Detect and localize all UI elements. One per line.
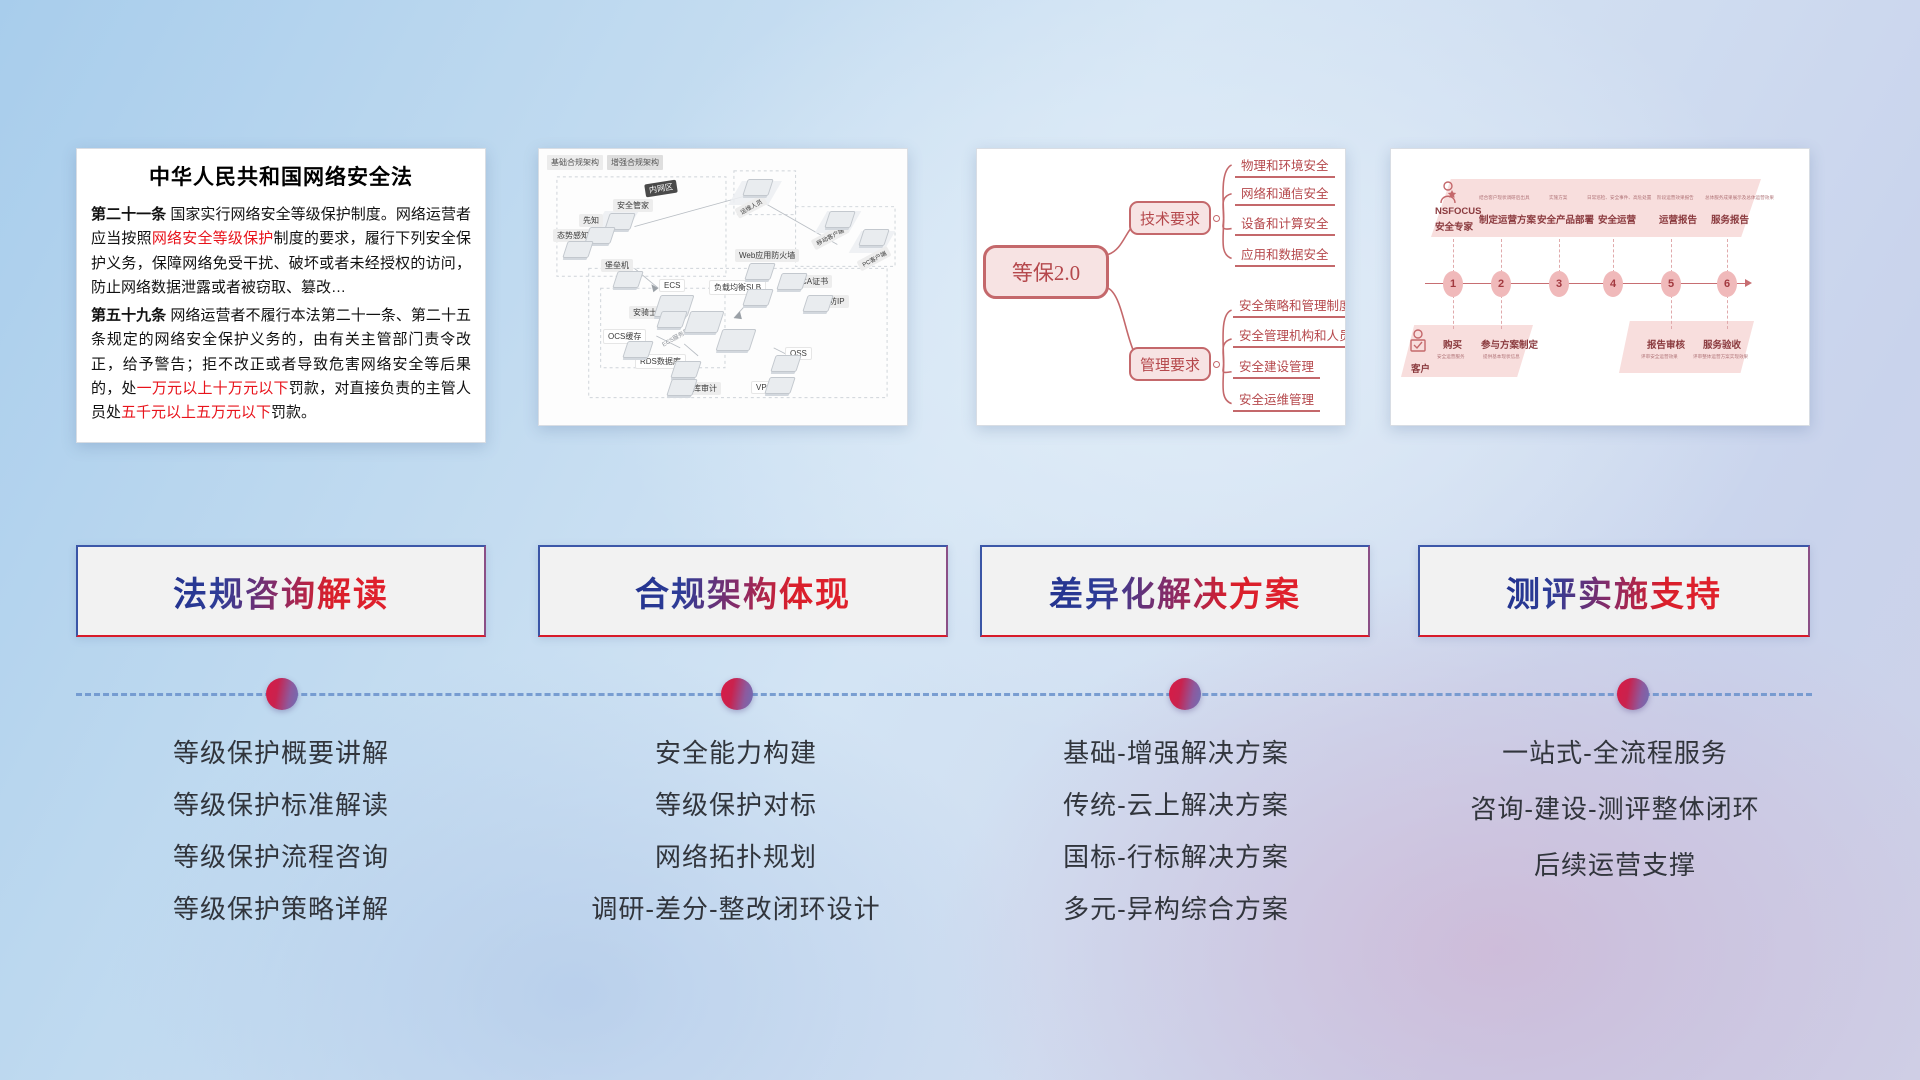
customer-person-icon xyxy=(1409,329,1427,353)
flow-top-title-3: 安全运营 xyxy=(1598,212,1636,226)
flow-tick-3 xyxy=(1559,239,1560,273)
list-item: 等级保护概要讲解 xyxy=(76,740,486,766)
flow-axis-arrow-icon xyxy=(1745,279,1752,287)
mindmap-leaf-security-policy: 安全策略和管理制度 xyxy=(1233,295,1346,318)
mindmap-leaf-physical-environment: 物理和环境安全 xyxy=(1235,155,1335,178)
arch-cube-16 xyxy=(770,355,802,372)
list-item: 基础-增强解决方案 xyxy=(976,740,1376,766)
expert-label-line1: NSFOCUS xyxy=(1435,206,1463,217)
mindmap-diagram: 等保2.0 技术要求 管理要求 物理和环境安全 网络和通信安全 设备和计算安全 … xyxy=(977,149,1345,425)
slide-canvas: 中华人民共和国网络安全法 第二十一条 国家实行网络安全等级保护制度。网络运营者应… xyxy=(0,0,1920,1080)
article-59-text-c: 罚款。 xyxy=(271,404,316,421)
flow-step-circle-1[interactable]: 1 xyxy=(1443,271,1463,297)
list-item: 等级保护对标 xyxy=(516,792,956,818)
arch-node-ecs: ECS xyxy=(659,279,685,292)
flow-top-sub-5: 总体服务成果展示及总体运营效果 xyxy=(1705,195,1774,201)
list-item: 传统-云上解决方案 xyxy=(976,792,1376,818)
flow-top-title-4: 运营报告 xyxy=(1659,212,1697,226)
law-article-21: 第二十一条 国家实行网络安全等级保护制度。网络运营者应当按照网络安全等级保护制度… xyxy=(91,203,471,300)
architecture-diagram: 基础合规架构 增强合规架构 xyxy=(539,149,907,425)
expert-label-line2: 安全专家 xyxy=(1435,219,1463,233)
detail-column-1: 等级保护概要讲解 等级保护标准解读 等级保护流程咨询 等级保护策略详解 xyxy=(76,740,486,948)
arch-cube-8 xyxy=(715,329,756,351)
flow-top-title-5: 服务报告 xyxy=(1711,212,1749,226)
arch-cube-17 xyxy=(764,377,796,394)
arch-node-xianzhi: 先知 xyxy=(579,214,603,227)
flow-tick-2 xyxy=(1501,239,1502,273)
list-item: 国标-行标解决方案 xyxy=(976,844,1376,870)
list-item: 调研-差分-整改闭环设计 xyxy=(516,896,956,922)
flow-top-title-1: 制定运营方案 xyxy=(1479,212,1536,226)
law-text-body: 中华人民共和国网络安全法 第二十一条 国家实行网络安全等级保护制度。网络运营者应… xyxy=(77,149,485,438)
detail-column-3: 基础-增强解决方案 传统-云上解决方案 国标-行标解决方案 多元-异构综合方案 xyxy=(976,740,1376,948)
flow-top-title-2: 安全产品部署 xyxy=(1537,212,1594,226)
law-title: 中华人民共和国网络安全法 xyxy=(91,161,471,191)
list-item: 一站式-全流程服务 xyxy=(1410,740,1820,766)
customer-label: 客户 xyxy=(1411,361,1430,375)
list-item: 网络拓扑规划 xyxy=(516,844,956,870)
flow-tick-b3 xyxy=(1671,295,1672,329)
flow-step-circle-2[interactable]: 2 xyxy=(1491,271,1511,297)
flow-tick-1 xyxy=(1453,239,1454,273)
flow-top-sub-1: 结合客户现状调研后出具 xyxy=(1479,195,1530,201)
timeline-node-4[interactable] xyxy=(1617,678,1649,710)
flow-step-circle-6[interactable]: 6 xyxy=(1717,271,1737,297)
mindmap-branch-technical: 技术要求 xyxy=(1129,201,1211,235)
timeline-node-3[interactable] xyxy=(1169,678,1201,710)
timeline-node-2[interactable] xyxy=(721,678,753,710)
flow-bottom-sub-1: 安全运营服务 xyxy=(1437,354,1465,360)
arch-cube-20 xyxy=(858,229,890,246)
flow-tick-b1 xyxy=(1453,295,1454,329)
flow-tick-5 xyxy=(1671,239,1672,273)
flow-bottom-sub-4: 评审整体运营方案实现效果 xyxy=(1693,354,1748,360)
list-item: 多元-异构综合方案 xyxy=(976,896,1376,922)
article-59-highlight-1: 一万元以上十万元以下 xyxy=(137,380,289,397)
article-21-highlight: 网络安全等级保护 xyxy=(152,230,274,247)
arch-cube-10 xyxy=(670,361,702,378)
card-cybersecurity-law[interactable]: 中华人民共和国网络安全法 第二十一条 国家实行网络安全等级保护制度。网络运营者应… xyxy=(76,148,486,443)
law-article-59: 第五十九条 网络运营者不履行本法第二十一条、第二十五条规定的网络安全保护义务的，… xyxy=(91,304,471,425)
headline-label-1: 法规咨询解读 xyxy=(173,567,389,616)
mindmap-leaf-network-communication: 网络和通信安全 xyxy=(1235,183,1335,206)
arch-cube-18 xyxy=(742,179,774,196)
card-dengbao-mindmap[interactable]: 等保2.0 技术要求 管理要求 物理和环境安全 网络和通信安全 设备和计算安全 … xyxy=(976,148,1346,426)
headline-label-4: 测评实施支持 xyxy=(1506,567,1722,616)
flow-step-circle-5[interactable]: 5 xyxy=(1661,271,1681,297)
list-item: 等级保护流程咨询 xyxy=(76,844,486,870)
mindmap-collapse-dot-technical[interactable] xyxy=(1213,215,1220,222)
flow-tick-6 xyxy=(1727,239,1728,273)
flow-bottom-title-2: 参与方案制定 xyxy=(1481,337,1538,351)
arch-node-security-manager: 安全管家 xyxy=(613,199,653,212)
expert-person-icon xyxy=(1439,181,1457,205)
arch-cube-7 xyxy=(683,311,724,333)
arch-cube-14 xyxy=(776,273,808,290)
flow-top-sub-4: 阶段运营效果报告 xyxy=(1657,195,1694,201)
arch-cube-3 xyxy=(562,241,594,258)
flow-bottom-title-1: 购买 xyxy=(1443,337,1462,351)
article-21-label: 第二十一条 xyxy=(91,206,166,223)
arch-cube-19 xyxy=(824,211,856,228)
mindmap-leaf-org-personnel: 安全管理机构和人员 xyxy=(1233,325,1346,348)
headline-label-2: 合规架构体现 xyxy=(635,567,851,616)
mindmap-branch-management: 管理要求 xyxy=(1129,347,1211,381)
list-item: 咨询-建设-测评整体闭环 xyxy=(1410,796,1820,822)
arch-cube-6 xyxy=(656,311,688,328)
flow-step-circle-3[interactable]: 3 xyxy=(1549,271,1569,297)
list-item: 等级保护策略详解 xyxy=(76,896,486,922)
article-59-label: 第五十九条 xyxy=(91,307,166,324)
detail-column-row: 等级保护概要讲解 等级保护标准解读 等级保护流程咨询 等级保护策略详解 安全能力… xyxy=(0,740,1920,990)
arch-cube-9 xyxy=(622,341,654,358)
timeline-node-1[interactable] xyxy=(266,678,298,710)
thumbnail-card-row: 中华人民共和国网络安全法 第二十一条 国家实行网络安全等级保护制度。网络运营者应… xyxy=(0,148,1920,453)
flow-top-sub-2: 实施方案 xyxy=(1549,195,1567,201)
arch-node-waf: Web应用防火墙 xyxy=(735,249,799,262)
detail-column-2: 安全能力构建 等级保护对标 网络拓扑规划 调研-差分-整改闭环设计 xyxy=(516,740,956,948)
card-nsfocus-service-flow[interactable]: NSFOCUS 安全专家 客户 结合客户现状调研后出具 制定运营方案 实施方案 … xyxy=(1390,148,1810,426)
mindmap-leaf-operation-mgmt: 安全运维管理 xyxy=(1233,389,1320,412)
arch-cube-15 xyxy=(802,295,834,312)
flow-bottom-title-4: 服务验收 xyxy=(1703,337,1741,351)
mindmap-collapse-dot-management[interactable] xyxy=(1213,361,1220,368)
list-item: 安全能力构建 xyxy=(516,740,956,766)
flow-tick-b2 xyxy=(1501,295,1502,329)
flow-top-sub-3: 日常巡检、安全事件、高危处置 xyxy=(1587,195,1651,201)
timeline-track xyxy=(76,693,1812,695)
list-item: 后续运营支撑 xyxy=(1410,852,1820,878)
headline-box-assessment-support[interactable]: 测评实施支持 xyxy=(1418,545,1810,637)
list-item: 等级保护标准解读 xyxy=(76,792,486,818)
flow-tick-b4 xyxy=(1727,295,1728,329)
arch-cube-13 xyxy=(742,289,774,306)
headline-box-compliance-architecture[interactable]: 合规架构体现 xyxy=(538,545,948,637)
mindmap-leaf-device-computing: 设备和计算安全 xyxy=(1235,213,1335,236)
flow-axis-line xyxy=(1425,283,1747,284)
flow-step-circle-4[interactable]: 4 xyxy=(1603,271,1623,297)
card-compliance-architecture[interactable]: 基础合规架构 增强合规架构 xyxy=(538,148,908,426)
mindmap-root-node: 等保2.0 xyxy=(983,245,1109,299)
arch-cube-11 xyxy=(666,379,698,396)
flow-bottom-sub-2: 提供基本现状信息 xyxy=(1483,354,1520,360)
detail-column-4: 一站式-全流程服务 咨询-建设-测评整体闭环 后续运营支撑 xyxy=(1410,740,1820,908)
timeline-dashed-line xyxy=(76,693,1812,696)
mindmap-leaf-construction-mgmt: 安全建设管理 xyxy=(1233,356,1320,379)
headline-row: 法规咨询解读 合规架构体现 差异化解决方案 测评实施支持 xyxy=(0,545,1920,641)
article-59-highlight-2: 五千元以上五万元以下 xyxy=(121,404,271,421)
flow-tick-4 xyxy=(1613,239,1614,273)
mindmap-leaf-application-data: 应用和数据安全 xyxy=(1235,244,1335,267)
arch-cube-4 xyxy=(612,271,644,288)
headline-label-3: 差异化解决方案 xyxy=(1049,567,1301,616)
service-flow-diagram: NSFOCUS 安全专家 客户 结合客户现状调研后出具 制定运营方案 实施方案 … xyxy=(1391,149,1809,425)
headline-box-differentiated-solution[interactable]: 差异化解决方案 xyxy=(980,545,1370,637)
headline-box-regulation-consulting[interactable]: 法规咨询解读 xyxy=(76,545,486,637)
flow-bottom-sub-3: 评审安全运营效果 xyxy=(1641,354,1678,360)
arch-cube-12 xyxy=(744,263,776,280)
flow-bottom-title-3: 报告审核 xyxy=(1647,337,1685,351)
